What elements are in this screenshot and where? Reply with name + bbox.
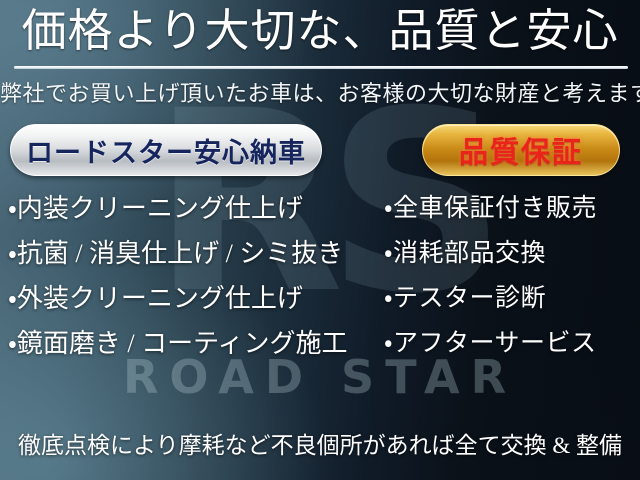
list-item: ・抗菌 / 消臭仕上げ / シミ抜き: [8, 231, 380, 276]
banner-footer-note: 徹底点検により摩耗など不良個所があれば全て交換 & 整備: [0, 432, 640, 461]
list-item: ・鏡面磨き / コーティング施工: [8, 321, 380, 366]
badge-roadstar-delivery-label: ロードスター安心納車: [26, 131, 306, 170]
feature-list-right: ・全車保証付き販売 ・消耗部品交換 ・テスター診断 ・アフターサービス: [384, 186, 640, 366]
title-divider: [14, 66, 628, 69]
feature-list-left: ・内装クリーニング仕上げ ・抗菌 / 消臭仕上げ / シミ抜き ・外装クリーニン…: [8, 186, 380, 366]
list-item: ・消耗部品交換: [384, 231, 640, 276]
badge-roadstar-delivery: ロードスター安心納車: [10, 124, 322, 176]
banner-title: 価格より大切な、品質と安心: [0, 5, 640, 58]
list-item: ・アフターサービス: [384, 321, 640, 366]
list-item: ・外装クリーニング仕上げ: [8, 276, 380, 321]
banner-content: 価格より大切な、品質と安心 弊社でお買い上げ頂いたお車は、お客様の大切な財産と考…: [0, 0, 640, 480]
banner-subtitle: 弊社でお買い上げ頂いたお車は、お客様の大切な財産と考えます。: [0, 80, 640, 109]
list-item: ・全車保証付き販売: [384, 186, 640, 231]
badge-quality-guarantee-label: 品質保証: [459, 129, 583, 171]
list-item: ・テスター診断: [384, 276, 640, 321]
promo-banner: RS ROAD STAR 価格より大切な、品質と安心 弊社でお買い上げ頂いたお車…: [0, 0, 640, 480]
list-item: ・内装クリーニング仕上げ: [8, 186, 380, 231]
badge-quality-guarantee: 品質保証: [422, 124, 620, 176]
